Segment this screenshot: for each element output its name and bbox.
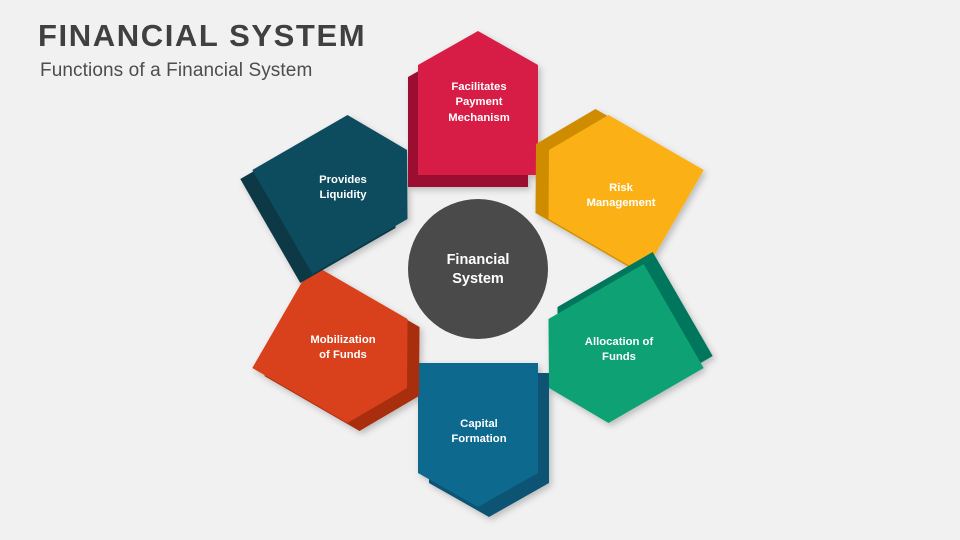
node-shape-mobilization-of-funds xyxy=(252,264,407,423)
diagram-shapes xyxy=(0,0,960,540)
node-shape-allocation-of-funds xyxy=(549,264,704,423)
node-shape-risk-management xyxy=(549,115,704,274)
node-shape-facilitates-payment-mechanism xyxy=(418,31,538,175)
financial-system-diagram: Financial System Facilitates Payment Mec… xyxy=(0,0,960,540)
slide-canvas: FINANCIAL SYSTEM Functions of a Financia… xyxy=(0,0,960,540)
hub-circle xyxy=(408,199,548,339)
node-shape-provides-liquidity xyxy=(252,115,407,274)
